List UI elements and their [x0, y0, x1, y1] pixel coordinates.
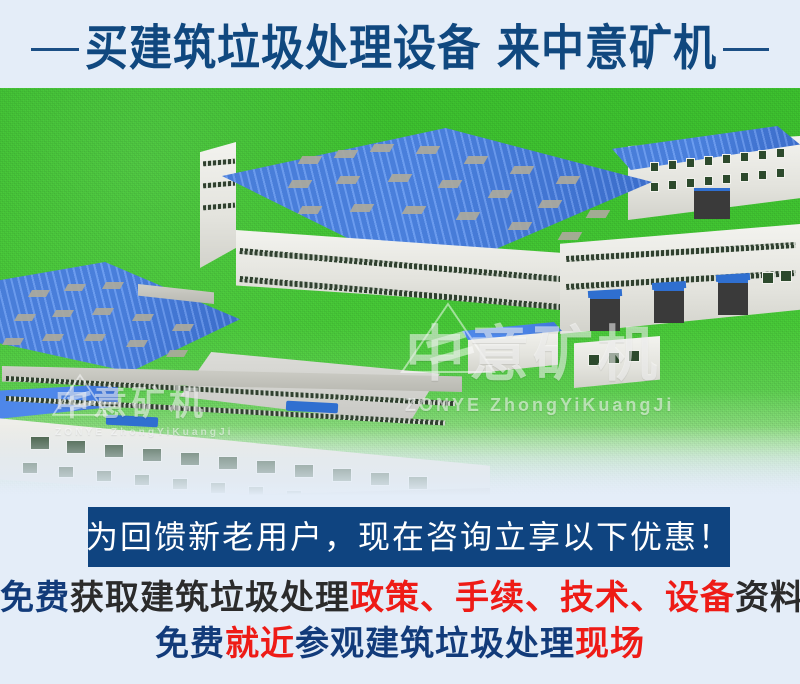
window	[776, 168, 785, 178]
window	[686, 178, 695, 188]
loading-door	[718, 280, 748, 315]
factory-hero-image: 中意矿机 ZONYE ZhongYiKuangJi 中意矿机 ZONYE Zho…	[0, 84, 800, 496]
offer-line-2-run-2: 参观建筑垃圾处理	[295, 624, 575, 664]
window	[686, 158, 695, 168]
headline-rule-right	[723, 48, 769, 51]
offer-line-1-run-2: 政策、手续、技术、设备	[350, 578, 735, 618]
headline-part-1: 买建筑垃圾处理设备	[85, 20, 481, 76]
window	[628, 350, 640, 362]
offer-line-2: 免费就近参观建筑垃圾处理现场	[0, 624, 800, 664]
offer-line-1-run-1: 获取建筑垃圾处理	[70, 578, 350, 618]
headline-part-2: 来中意矿机	[497, 20, 717, 76]
offer-line-2-run-3: 现场	[575, 624, 645, 664]
window	[762, 272, 774, 284]
window	[650, 182, 659, 192]
offer-line-1-run-3: 资料	[735, 578, 800, 618]
headline-row: 买建筑垃圾处理设备来中意矿机	[0, 14, 800, 84]
grass-fade-overlay	[0, 426, 800, 496]
promo-banner-text: 为回馈新老用户，现在咨询立享以下优惠！	[86, 521, 732, 553]
window	[588, 354, 600, 366]
window	[704, 156, 713, 166]
promo-poster: 买建筑垃圾处理设备来中意矿机	[0, 0, 800, 684]
window	[780, 270, 792, 282]
window	[776, 148, 785, 158]
offer-line-1: 免费获取建筑垃圾处理政策、手续、技术、设备资料	[0, 578, 800, 618]
window	[650, 162, 659, 172]
page-title: 买建筑垃圾处理设备来中意矿机	[85, 25, 717, 73]
loading-door	[654, 288, 684, 323]
offer-line-2-run-0: 免费	[155, 624, 225, 664]
offer-line-2-run-1: 就近	[225, 624, 295, 664]
loading-door	[590, 296, 620, 331]
window	[668, 160, 677, 170]
loading-door	[694, 188, 730, 219]
offer-list: 免费获取建筑垃圾处理政策、手续、技术、设备资料 免费就近参观建筑垃圾处理现场	[0, 578, 800, 664]
window	[740, 152, 749, 162]
offer-line-1-run-0: 免费	[0, 578, 70, 618]
window	[722, 174, 731, 184]
promo-banner: 为回馈新老用户，现在咨询立享以下优惠！	[88, 507, 730, 567]
window	[740, 172, 749, 182]
window	[608, 352, 620, 364]
window	[668, 180, 677, 190]
window	[758, 170, 767, 180]
window	[722, 154, 731, 164]
window	[758, 150, 767, 160]
window	[704, 176, 713, 186]
headline-rule-left	[31, 48, 79, 51]
